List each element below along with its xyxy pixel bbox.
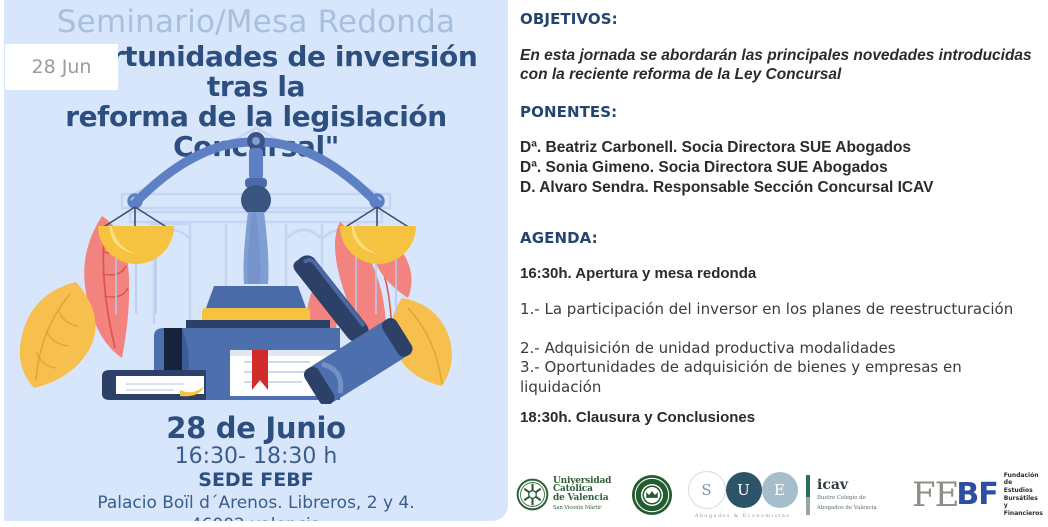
sponsor-logo-bar: Universidad Católica de Valencia San Vic… bbox=[508, 462, 1048, 527]
poster-footer: 28 de Junio 16:30- 18:30 h SEDE FEBF Pal… bbox=[4, 412, 508, 521]
febf-bf: BF bbox=[956, 480, 997, 510]
details-panel: OBJETIVOS: En esta jornada se abordarán … bbox=[508, 0, 1048, 527]
agenda-heading: AGENDA: bbox=[520, 229, 598, 247]
logo-escuela-seal bbox=[626, 462, 678, 527]
ucv-emblem-icon bbox=[516, 478, 549, 511]
book-stack-icon bbox=[102, 320, 342, 400]
speaker-item: Dª. Beatriz Carbonell. Socia Directora S… bbox=[520, 138, 1032, 158]
poster-venue: SEDE FEBF bbox=[4, 469, 508, 492]
poster-date: 28 de Junio bbox=[4, 412, 508, 444]
logo-icav: icav Ilustre Colegio de Abogados de Vale… bbox=[806, 462, 916, 527]
speaker-item: Dª. Sonia Gimeno. Socia Directora SUE Ab… bbox=[520, 158, 1032, 178]
agenda-opening: 16:30h. Apertura y mesa redonda bbox=[520, 264, 1032, 283]
justice-illustration bbox=[4, 104, 508, 404]
febf-fe: FE bbox=[912, 478, 958, 512]
poster-time: 16:30- 18:30 h bbox=[4, 444, 508, 469]
febf-sub2: de Estudios bbox=[1004, 479, 1043, 494]
logo-febf: FE BF Fundación de Estudios Bursátiles y… bbox=[912, 462, 1046, 527]
ucv-wordmark: Universidad Católica de Valencia San Vic… bbox=[553, 477, 611, 513]
sue-letter-u: U bbox=[726, 472, 762, 508]
febf-tagline: Fundación de Estudios Bursátiles y Finan… bbox=[1004, 472, 1043, 518]
ucv-line3: de Valencia bbox=[553, 494, 611, 503]
febf-sub4: y Financieros bbox=[1004, 502, 1043, 517]
icav-wordmark: icav Ilustre Colegio de Abogados de Vale… bbox=[817, 478, 877, 511]
icav-sub2: Abogados de Valencia bbox=[817, 505, 877, 511]
logo-universidad-catolica-valencia: Universidad Católica de Valencia San Vic… bbox=[516, 462, 621, 527]
date-chip: 28 Jun bbox=[5, 44, 118, 90]
ponentes-heading: PONENTES: bbox=[520, 103, 617, 121]
agenda-item: 3.- Oportunidades de adquisición de bien… bbox=[520, 358, 1020, 397]
agenda-item: 2.- Adquisición de unidad productiva mod… bbox=[520, 339, 1020, 359]
objetivos-heading: OBJETIVOS: bbox=[520, 10, 618, 28]
agenda-item: 1.- La participación del inversor en los… bbox=[520, 300, 1020, 320]
sue-letter-s: S bbox=[688, 471, 726, 509]
icav-word: icav bbox=[817, 478, 877, 492]
poster-page: Seminario/Mesa Redonda "Oportunidades de… bbox=[0, 0, 1048, 527]
icav-sub1: Ilustre Colegio de bbox=[817, 495, 877, 501]
poster-kicker: Seminario/Mesa Redonda bbox=[4, 4, 508, 40]
sue-subtitle: Abogados & Economistas bbox=[695, 513, 790, 519]
febf-sub1: Fundación bbox=[1004, 472, 1043, 480]
objetivos-text: En esta jornada se abordarán las princip… bbox=[520, 46, 1032, 84]
ucv-line4: San Vicente Mártir bbox=[553, 504, 611, 513]
speaker-item: D. Alvaro Sendra. Responsable Sección Co… bbox=[520, 178, 1032, 198]
sue-letter-e: E bbox=[762, 472, 798, 508]
sue-letter-circles: S U E bbox=[688, 471, 798, 509]
logo-sue-abogados: S U E Abogados & Economistas bbox=[680, 462, 805, 527]
febf-sub3: Bursátiles bbox=[1004, 495, 1043, 503]
green-seal-icon bbox=[631, 474, 673, 516]
leaf-yellow-left-icon bbox=[20, 282, 96, 388]
date-chip-label: 28 Jun bbox=[32, 56, 92, 78]
poster-address: Palacio Boïl d´Arenos. Libreros, 2 y 4. bbox=[4, 492, 508, 514]
poster-city: 46002 valencia bbox=[4, 514, 508, 521]
icav-accent-bar bbox=[806, 475, 810, 515]
agenda-closing: 18:30h. Clausura y Conclusiones bbox=[520, 408, 1032, 427]
